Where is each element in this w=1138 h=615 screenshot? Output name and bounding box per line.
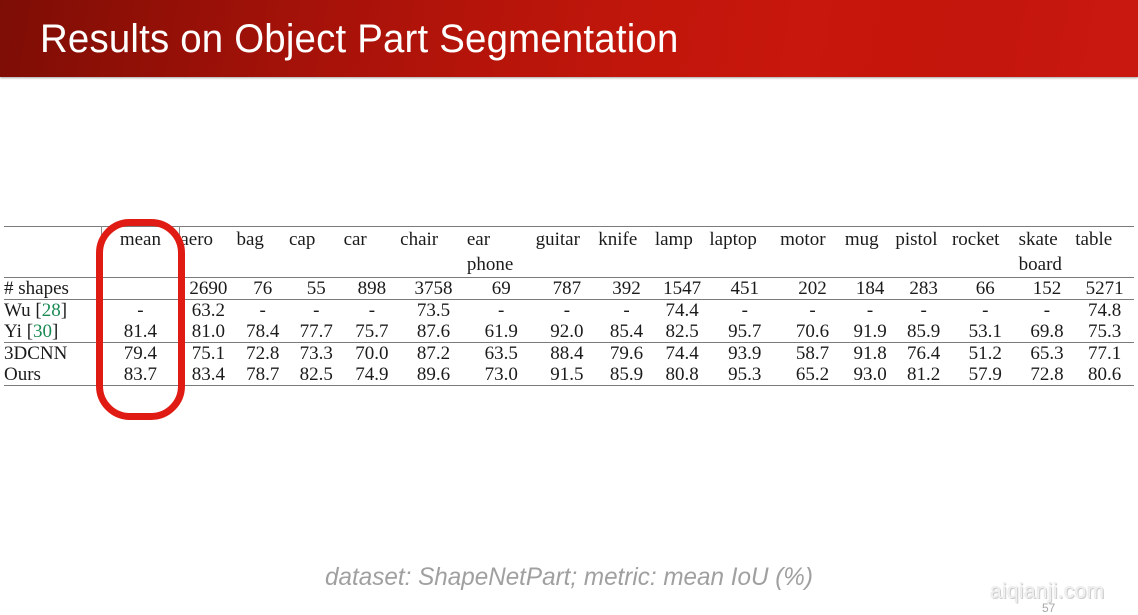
header-mean-2	[101, 253, 180, 278]
cell-mean: -	[101, 300, 180, 322]
cell-mean: 79.4	[101, 343, 180, 365]
cell-aero: 81.0	[180, 321, 237, 343]
cell-motor: 65.2	[780, 364, 845, 386]
header-laptop: laptop	[709, 227, 780, 254]
cell-knife: 85.9	[598, 364, 655, 386]
cell-lamp: 74.4	[655, 343, 710, 365]
slide-title-bar: Results on Object Part Segmentation	[0, 0, 1138, 77]
cell-table: 74.8	[1075, 300, 1134, 322]
cell-aero: 83.4	[180, 364, 237, 386]
row-label-yi: Yi [30]	[4, 321, 101, 343]
cell-cap: 55	[289, 278, 344, 300]
header-chair-2	[400, 253, 467, 278]
cell-bag: 72.8	[236, 343, 289, 365]
header-rocket: rocket	[952, 227, 1019, 254]
header-cap-2	[289, 253, 344, 278]
cell-aero: 63.2	[180, 300, 237, 322]
cell-laptop: 451	[709, 278, 780, 300]
cell-guitar: 88.4	[536, 343, 599, 365]
cell-ear-phone: 63.5	[467, 343, 536, 365]
table-row: Wu [28]-63.2---73.5---74.4------74.8	[4, 300, 1134, 322]
cell-mug: 91.8	[845, 343, 896, 365]
cell-mug: 93.0	[845, 364, 896, 386]
cell-rocket: 51.2	[952, 343, 1019, 365]
cell-ear-phone: -	[467, 300, 536, 322]
cell-chair: 87.2	[400, 343, 467, 365]
table-row: Yi [30]81.481.078.477.775.787.661.992.08…	[4, 321, 1134, 343]
row-label-shapes: # shapes	[4, 278, 101, 300]
header-row-line1: mean aero bag cap car chair ear guitar k…	[4, 227, 1134, 254]
cell-rocket: 53.1	[952, 321, 1019, 343]
header-mug: mug	[845, 227, 896, 254]
table-row: Ours83.783.478.782.574.989.673.091.585.9…	[4, 364, 1134, 386]
row-label-wu: Wu [28]	[4, 300, 101, 322]
cell-car: 70.0	[344, 343, 401, 365]
cell-table: 75.3	[1075, 321, 1134, 343]
cell-lamp: 80.8	[655, 364, 710, 386]
header-laptop-2	[709, 253, 780, 278]
cell-cap: 77.7	[289, 321, 344, 343]
cell-motor: -	[780, 300, 845, 322]
header-chair: chair	[400, 227, 467, 254]
cell-ear-phone: 69	[467, 278, 536, 300]
cell-table: 80.6	[1075, 364, 1134, 386]
header-blank	[4, 227, 101, 254]
cell-ear-phone: 61.9	[467, 321, 536, 343]
results-table-container: mean aero bag cap car chair ear guitar k…	[4, 226, 1134, 386]
cell-rocket: 66	[952, 278, 1019, 300]
cell-pistol: 81.2	[895, 364, 952, 386]
cell-pistol: 85.9	[895, 321, 952, 343]
page-title: Results on Object Part Segmentation	[40, 8, 679, 70]
row-label-3dcnn: 3DCNN	[4, 343, 101, 365]
cell-skate-board: 152	[1019, 278, 1076, 300]
cell-chair: 89.6	[400, 364, 467, 386]
cell-mean	[101, 278, 180, 300]
cell-bag: 76	[236, 278, 289, 300]
row-label-ours: Ours	[4, 364, 101, 386]
header-car-2	[344, 253, 401, 278]
cell-pistol: 283	[895, 278, 952, 300]
header-earphone: ear	[467, 227, 536, 254]
cell-bag: 78.4	[236, 321, 289, 343]
header-motor-2	[780, 253, 845, 278]
cell-cap: 73.3	[289, 343, 344, 365]
cell-skate-board: 72.8	[1019, 364, 1076, 386]
header-guitar-2	[536, 253, 599, 278]
cell-car: 898	[344, 278, 401, 300]
cell-laptop: 95.3	[709, 364, 780, 386]
header-lamp-2	[655, 253, 710, 278]
table-head: mean aero bag cap car chair ear guitar k…	[4, 227, 1134, 278]
cell-pistol: -	[895, 300, 952, 322]
cell-car: 74.9	[344, 364, 401, 386]
cell-guitar: 91.5	[536, 364, 599, 386]
header-aero-2	[180, 253, 237, 278]
header-bag-2	[236, 253, 289, 278]
cell-chair: 87.6	[400, 321, 467, 343]
cell-cap: 82.5	[289, 364, 344, 386]
table-caption: dataset: ShapeNetPart; metric: mean IoU …	[17, 563, 1121, 592]
cell-car: 75.7	[344, 321, 401, 343]
header-table-2	[1075, 253, 1134, 278]
cell-laptop: 93.9	[709, 343, 780, 365]
header-bag: bag	[236, 227, 289, 254]
table-row: 3DCNN79.475.172.873.370.087.263.588.479.…	[4, 343, 1134, 365]
header-table: table	[1075, 227, 1134, 254]
header-pistol: pistol	[895, 227, 952, 254]
cell-skate-board: -	[1019, 300, 1076, 322]
header-mug-2	[845, 253, 896, 278]
cell-mug: -	[845, 300, 896, 322]
citation-ref[interactable]: 30	[33, 321, 52, 342]
cell-motor: 58.7	[780, 343, 845, 365]
cell-lamp: 82.5	[655, 321, 710, 343]
cell-car: -	[344, 300, 401, 322]
cell-bag: -	[236, 300, 289, 322]
cell-motor: 70.6	[780, 321, 845, 343]
header-car: car	[344, 227, 401, 254]
cell-rocket: -	[952, 300, 1019, 322]
cell-knife: 79.6	[598, 343, 655, 365]
header-guitar: guitar	[536, 227, 599, 254]
cell-knife: 392	[598, 278, 655, 300]
cell-aero: 2690	[180, 278, 237, 300]
header-lamp: lamp	[655, 227, 710, 254]
header-blank-2	[4, 253, 101, 278]
header-row-line2: phone board	[4, 253, 1134, 278]
cell-lamp: 74.4	[655, 300, 710, 322]
cell-cap: -	[289, 300, 344, 322]
cell-skate-board: 69.8	[1019, 321, 1076, 343]
cell-skate-board: 65.3	[1019, 343, 1076, 365]
header-cap: cap	[289, 227, 344, 254]
table-row: # shapes26907655898375869787392154745120…	[4, 278, 1134, 300]
slide-page-number: 57	[1042, 601, 1055, 615]
cell-motor: 202	[780, 278, 845, 300]
cell-table: 5271	[1075, 278, 1134, 300]
results-table: mean aero bag cap car chair ear guitar k…	[4, 226, 1134, 386]
header-skateboard-2: board	[1019, 253, 1076, 278]
cell-bag: 78.7	[236, 364, 289, 386]
header-rocket-2	[952, 253, 1019, 278]
cell-lamp: 1547	[655, 278, 710, 300]
cell-guitar: -	[536, 300, 599, 322]
table-body: # shapes26907655898375869787392154745120…	[4, 278, 1134, 386]
cell-guitar: 787	[536, 278, 599, 300]
cell-knife: -	[598, 300, 655, 322]
cell-laptop: -	[709, 300, 780, 322]
cell-laptop: 95.7	[709, 321, 780, 343]
cell-mean: 83.7	[101, 364, 180, 386]
cell-guitar: 92.0	[536, 321, 599, 343]
header-pistol-2	[895, 253, 952, 278]
cell-table: 77.1	[1075, 343, 1134, 365]
cell-chair: 73.5	[400, 300, 467, 322]
cell-knife: 85.4	[598, 321, 655, 343]
cell-chair: 3758	[400, 278, 467, 300]
cell-mug: 184	[845, 278, 896, 300]
header-knife-2	[598, 253, 655, 278]
cell-mug: 91.9	[845, 321, 896, 343]
citation-ref[interactable]: 28	[42, 300, 61, 321]
header-knife: knife	[598, 227, 655, 254]
cell-ear-phone: 73.0	[467, 364, 536, 386]
cell-pistol: 76.4	[895, 343, 952, 365]
cell-rocket: 57.9	[952, 364, 1019, 386]
header-skateboard: skate	[1019, 227, 1076, 254]
header-motor: motor	[780, 227, 845, 254]
cell-aero: 75.1	[180, 343, 237, 365]
header-aero: aero	[180, 227, 237, 254]
header-mean: mean	[101, 227, 180, 254]
header-earphone-2: phone	[467, 253, 536, 278]
cell-mean: 81.4	[101, 321, 180, 343]
